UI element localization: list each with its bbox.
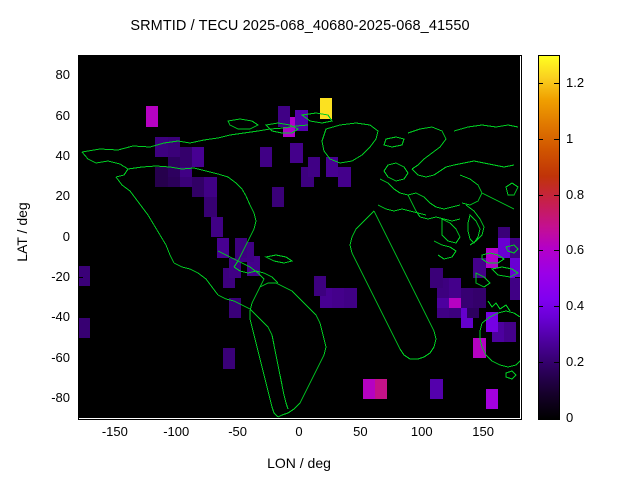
colorbar-tick-label: 0.6 bbox=[566, 242, 584, 257]
y-tick-mark bbox=[78, 116, 83, 117]
y-axis-label: LAT / deg bbox=[14, 172, 30, 292]
x-tick-label: 0 bbox=[269, 424, 329, 439]
x-tick-label: 100 bbox=[392, 424, 452, 439]
y-tick-mark-right bbox=[515, 196, 520, 197]
x-tick-mark bbox=[360, 413, 361, 418]
x-tick-mark bbox=[238, 413, 239, 418]
y-tick-mark bbox=[78, 196, 83, 197]
y-tick-mark-right bbox=[515, 317, 520, 318]
colorbar-tick-mark bbox=[538, 306, 543, 307]
colorbar-tick-label: 0.4 bbox=[566, 298, 584, 313]
colorbar-tick-label: 0 bbox=[566, 410, 573, 425]
x-tick-mark-top bbox=[115, 55, 116, 60]
x-tick-label: 150 bbox=[453, 424, 513, 439]
y-tick-mark-right bbox=[515, 398, 520, 399]
x-tick-mark-top bbox=[176, 55, 177, 60]
coastline-layer bbox=[78, 55, 520, 418]
y-tick-mark-right bbox=[515, 277, 520, 278]
colorbar-tick-label: 0.2 bbox=[566, 354, 584, 369]
colorbar-tick-label: 0.8 bbox=[566, 187, 584, 202]
x-tick-mark-top bbox=[238, 55, 239, 60]
x-tick-label: -100 bbox=[146, 424, 206, 439]
colorbar-tick-label: 1 bbox=[566, 131, 573, 146]
page-title: SRMTID / TECU 2025-068_40680-2025-068_41… bbox=[0, 18, 600, 34]
x-axis-label: LON / deg bbox=[78, 455, 520, 471]
colorbar-tick-mark-right bbox=[554, 195, 559, 196]
y-tick-mark bbox=[78, 75, 83, 76]
colorbar-tick-mark bbox=[538, 83, 543, 84]
x-tick-mark bbox=[176, 413, 177, 418]
x-tick-label: -150 bbox=[85, 424, 145, 439]
x-tick-mark-top bbox=[299, 55, 300, 60]
y-tick-label: -80 bbox=[16, 390, 70, 405]
colorbar-tick-mark-right bbox=[554, 418, 559, 419]
x-tick-mark bbox=[299, 413, 300, 418]
colorbar-tick-mark-right bbox=[554, 83, 559, 84]
x-tick-mark-top bbox=[483, 55, 484, 60]
colorbar-tick-mark-right bbox=[554, 139, 559, 140]
x-tick-label: -50 bbox=[208, 424, 268, 439]
x-tick-label: 50 bbox=[330, 424, 390, 439]
y-tick-mark bbox=[78, 277, 83, 278]
y-tick-mark-right bbox=[515, 116, 520, 117]
colorbar-tick-mark bbox=[538, 250, 543, 251]
heatmap-plot-area bbox=[78, 55, 520, 418]
colorbar bbox=[538, 55, 560, 420]
x-tick-mark bbox=[483, 413, 484, 418]
colorbar-tick-mark-right bbox=[554, 362, 559, 363]
colorbar-tick-mark bbox=[538, 362, 543, 363]
colorbar-tick-mark-right bbox=[554, 306, 559, 307]
y-tick-mark bbox=[78, 156, 83, 157]
y-tick-mark bbox=[78, 317, 83, 318]
y-tick-label: 60 bbox=[16, 108, 70, 123]
x-tick-mark bbox=[422, 413, 423, 418]
y-tick-mark bbox=[78, 237, 83, 238]
y-tick-mark-right bbox=[515, 75, 520, 76]
y-tick-mark-right bbox=[515, 156, 520, 157]
y-tick-label: 40 bbox=[16, 148, 70, 163]
x-tick-mark-top bbox=[422, 55, 423, 60]
y-tick-label: -60 bbox=[16, 350, 70, 365]
y-tick-mark-right bbox=[515, 358, 520, 359]
y-tick-label: 80 bbox=[16, 67, 70, 82]
colorbar-tick-label: 1.2 bbox=[566, 75, 584, 90]
y-tick-label: -40 bbox=[16, 309, 70, 324]
y-tick-mark-right bbox=[515, 237, 520, 238]
y-tick-mark bbox=[78, 398, 83, 399]
y-tick-mark bbox=[78, 358, 83, 359]
colorbar-tick-mark-right bbox=[554, 250, 559, 251]
x-tick-mark bbox=[115, 413, 116, 418]
x-tick-mark-top bbox=[360, 55, 361, 60]
colorbar-tick-mark bbox=[538, 139, 543, 140]
colorbar-tick-mark bbox=[538, 195, 543, 196]
colorbar-tick-mark bbox=[538, 418, 543, 419]
